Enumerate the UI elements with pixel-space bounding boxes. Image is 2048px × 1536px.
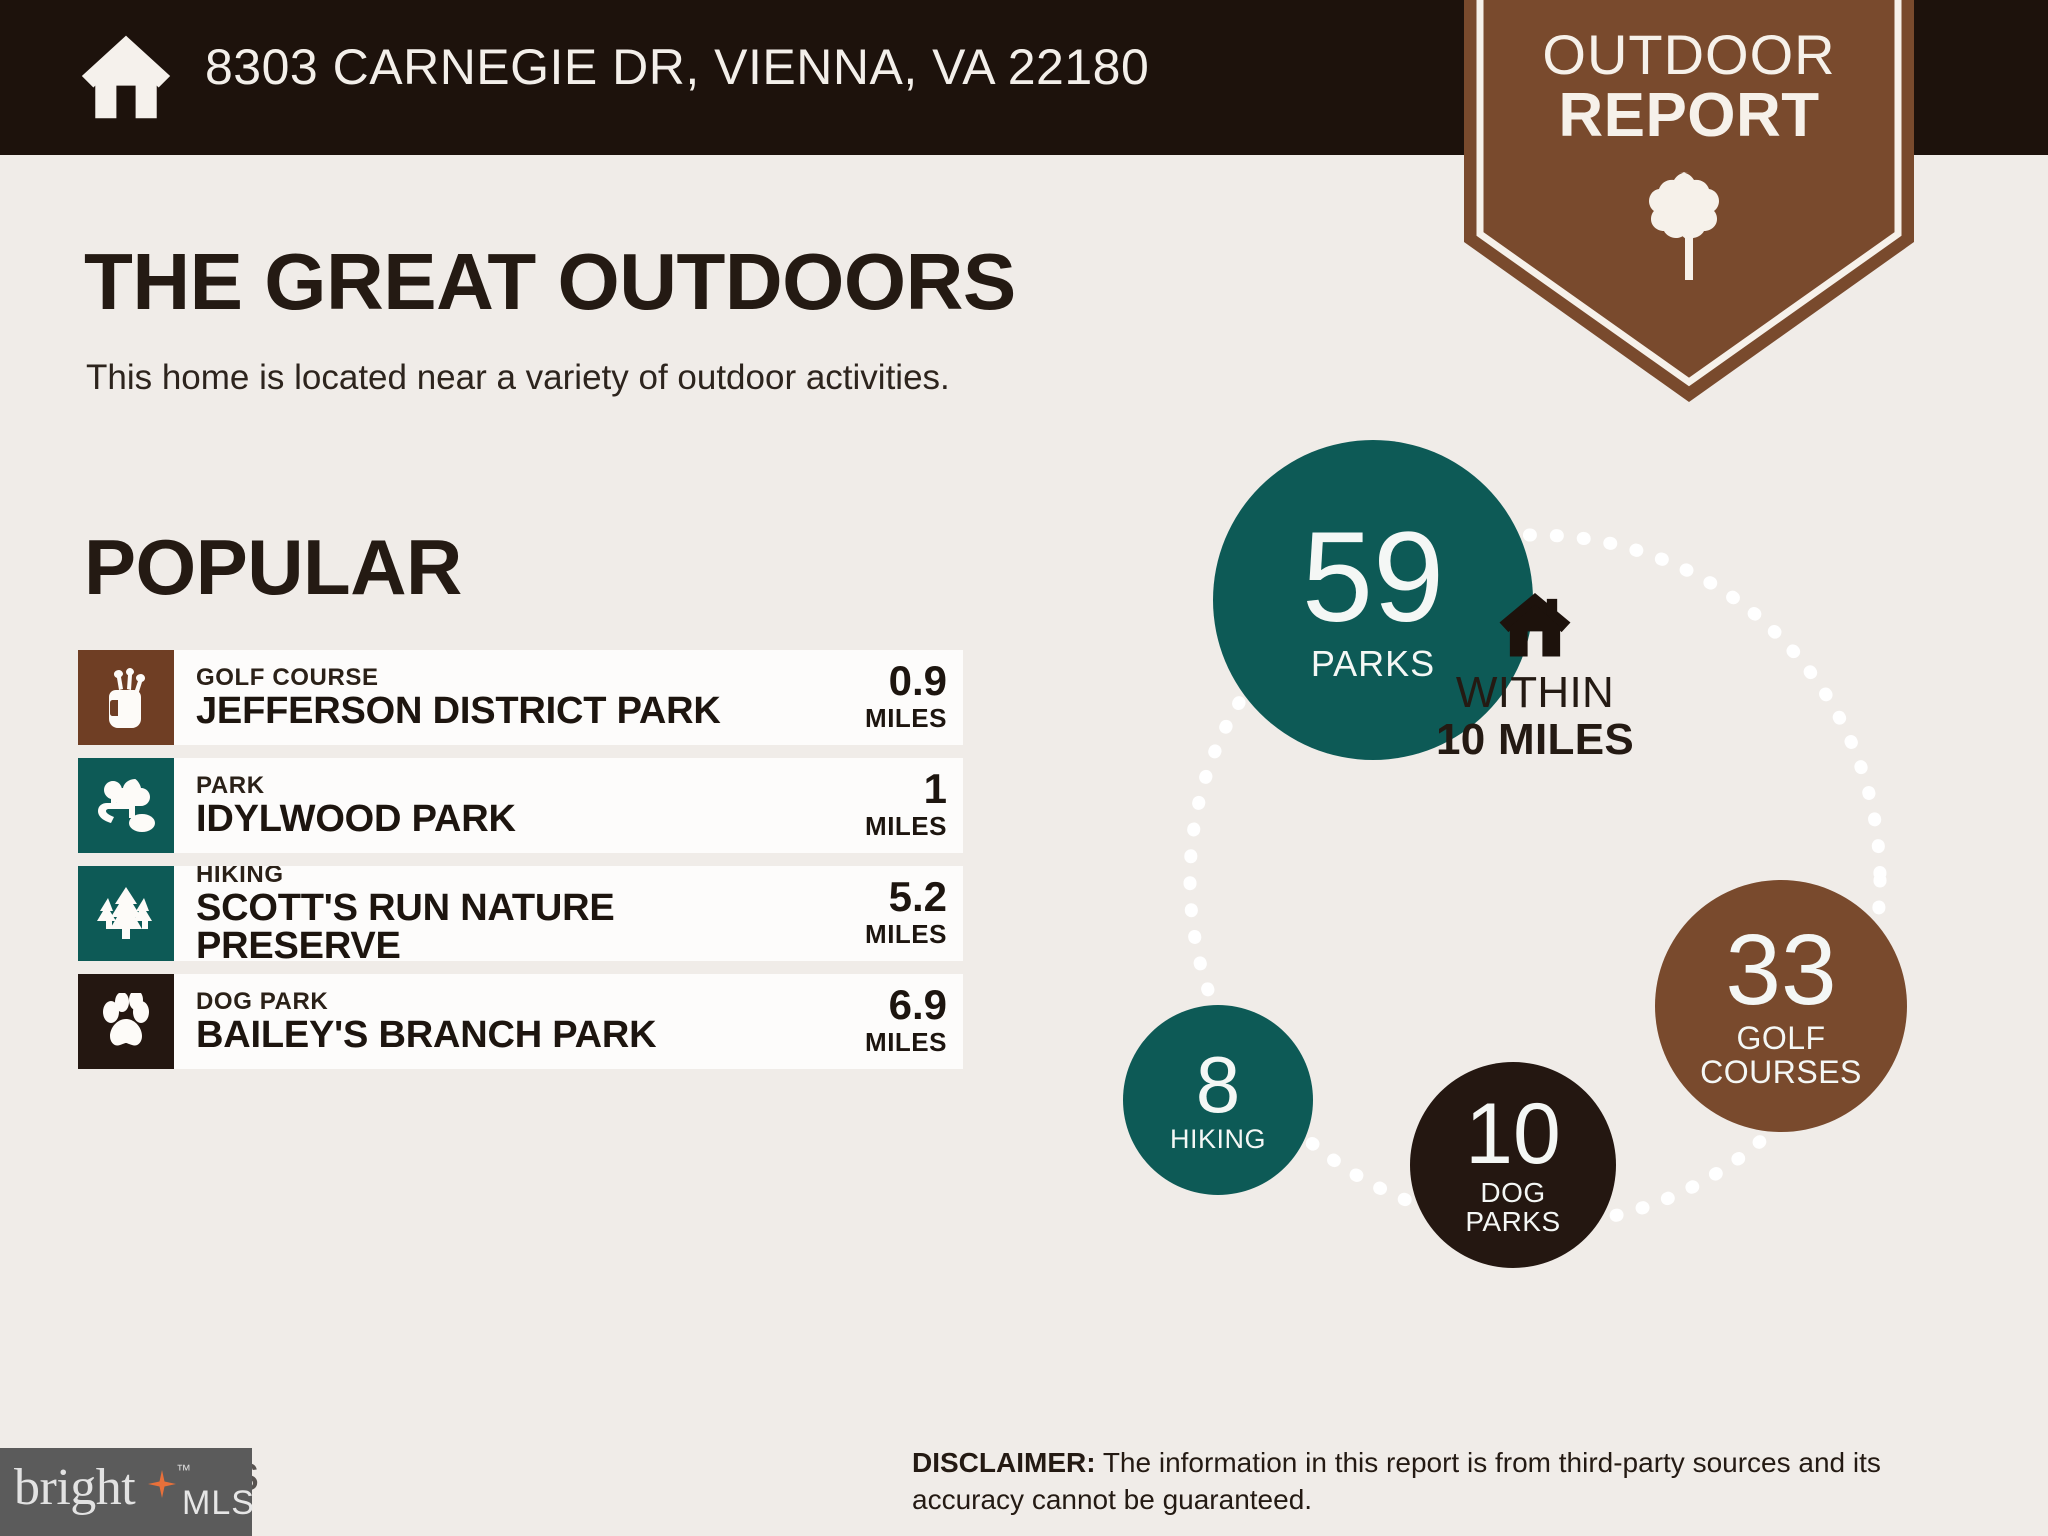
poi-name: IDYLWOOD PARK [196,800,829,839]
stat-circle-hiking[interactable]: 8 HIKING [1123,1005,1313,1195]
watermark-trademark: ™ [176,1462,191,1479]
poi-name: JEFFERSON DISTRICT PARK [196,692,829,731]
poi-text: PARK IDYLWOOD PARK [174,758,829,853]
popular-heading: POPULAR [84,522,462,613]
pine-trees-icon [95,886,157,942]
tree-icon [1646,170,1732,282]
poi-category: HIKING [196,866,829,889]
poi-distance-value: 5.2 [889,876,947,918]
list-item[interactable]: GOLF COURSE JEFFERSON DISTRICT PARK 0.9 … [78,650,963,745]
poi-distance: 1 MILES [829,758,963,853]
stat-label: HIKING [1170,1125,1266,1153]
poi-text: HIKING SCOTT'S RUN NATURE PRESERVE [174,866,829,961]
paw-print-icon [98,993,154,1051]
stat-circle-golf-courses[interactable]: 33 GOLF COURSES [1655,880,1907,1132]
park-trees-icon [96,777,156,835]
disclaimer-label: DISCLAIMER: [912,1447,1096,1478]
poi-distance-unit: MILES [865,1026,947,1060]
stat-label-line-2: COURSES [1700,1056,1862,1089]
poi-distance-unit: MILES [865,810,947,844]
home-icon [78,28,174,124]
stat-label: GOLF COURSES [1700,1022,1862,1089]
amenities-diagram: 59 PARKS 33 GOLF COURSES 10 DOG PARKS 8 … [1085,430,1985,1330]
within-label: WITHIN [1345,670,1725,716]
diagram-center: WITHIN 10 MILES [1345,590,1725,765]
within-distance: 10 MILES [1345,716,1725,764]
list-item[interactable]: DOG PARK BAILEY'S BRANCH PARK 6.9 MILES [78,974,963,1069]
stat-value: 33 [1725,923,1836,1018]
bright-mls-watermark: bright ™ MLS [0,1448,252,1536]
poi-category: DOG PARK [196,988,829,1016]
page-subtitle: This home is located near a variety of o… [86,358,950,398]
poi-name: SCOTT'S RUN NATURE PRESERVE [196,889,829,961]
poi-category: GOLF COURSE [196,664,829,692]
stat-label-line-1: DOG [1465,1178,1560,1207]
poi-distance: 0.9 MILES [829,650,963,745]
poi-distance-value: 6.9 [889,984,947,1026]
poi-icon-tile [78,758,174,853]
poi-icon-tile [78,650,174,745]
poi-text: GOLF COURSE JEFFERSON DISTRICT PARK [174,650,829,745]
page-title: THE GREAT OUTDOORS [84,236,1016,328]
poi-distance: 6.9 MILES [829,974,963,1069]
watermark-mls: MLS [182,1484,255,1523]
list-item[interactable]: HIKING SCOTT'S RUN NATURE PRESERVE 5.2 M… [78,866,963,961]
stat-value: 10 [1465,1094,1561,1176]
stat-label-line-1: GOLF [1700,1022,1862,1055]
poi-icon-tile [78,974,174,1069]
property-address: 8303 CARNEGIE DR, VIENNA, VA 22180 [205,38,1149,96]
stat-label-line-2: PARKS [1465,1207,1560,1236]
poi-distance-unit: MILES [865,918,947,952]
watermark-brand: bright [14,1462,135,1514]
golf-bag-icon [98,668,154,728]
home-icon [1498,590,1572,658]
stat-value: 8 [1196,1047,1241,1123]
outdoor-report-badge: OUTDOOR REPORT [1464,0,1914,404]
list-item[interactable]: PARK IDYLWOOD PARK 1 MILES [78,758,963,853]
poi-distance-value: 0.9 [889,660,947,702]
poi-distance: 5.2 MILES [829,866,963,961]
stat-circle-dog-parks[interactable]: 10 DOG PARKS [1410,1062,1616,1268]
poi-text: DOG PARK BAILEY'S BRANCH PARK [174,974,829,1069]
stat-label: DOG PARKS [1465,1178,1560,1236]
poi-distance-value: 1 [924,768,947,810]
popular-list: GOLF COURSE JEFFERSON DISTRICT PARK 0.9 … [78,650,963,1082]
poi-category: PARK [196,772,829,800]
poi-distance-unit: MILES [865,702,947,736]
poi-icon-tile [78,866,174,961]
poi-name: BAILEY'S BRANCH PARK [196,1016,829,1055]
outdoor-report-page: 8303 CARNEGIE DR, VIENNA, VA 22180 OUTDO… [0,0,2048,1536]
disclaimer: DISCLAIMER: The information in this repo… [912,1444,1982,1518]
sparkle-icon [148,1470,176,1498]
